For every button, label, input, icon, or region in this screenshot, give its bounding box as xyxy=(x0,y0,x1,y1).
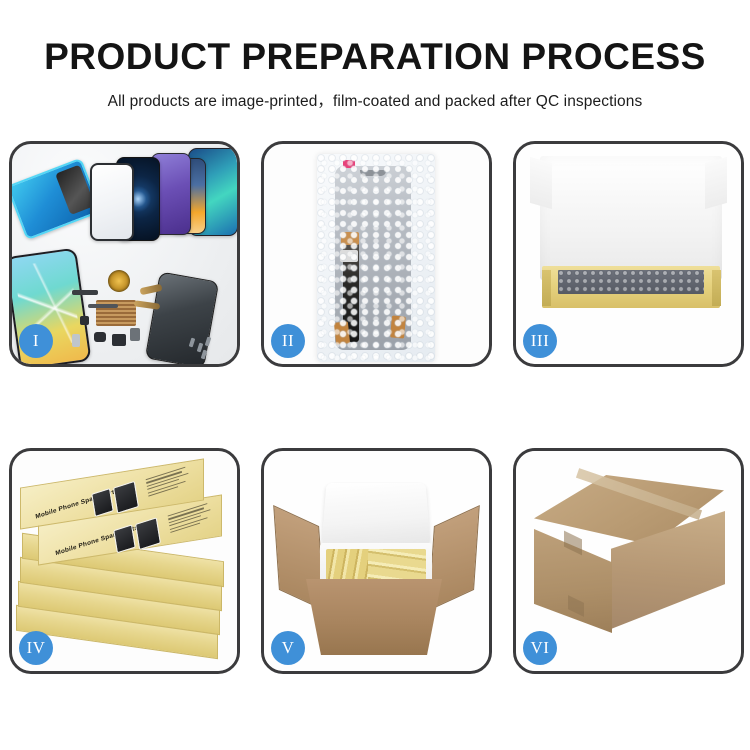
box-print-thumbnail xyxy=(113,481,139,514)
part-chip xyxy=(80,316,89,325)
step-badge-v: V xyxy=(271,631,305,665)
step-badge-iii: III xyxy=(523,324,557,358)
box-print-thumbnail xyxy=(91,488,114,517)
tray-lip-left xyxy=(542,270,551,306)
page-title: PRODUCT PREPARATION PROCESS xyxy=(0,0,750,78)
part-button xyxy=(94,332,106,342)
step-badge-i: I xyxy=(19,324,53,358)
part-speaker xyxy=(130,328,140,341)
carton-body xyxy=(306,579,442,655)
step-panel-ii[interactable]: II xyxy=(261,141,492,367)
step-panel-iv[interactable]: Mobile Phone Spare Parts Mobile Phone Sp… xyxy=(9,448,240,674)
box-white-lid xyxy=(540,156,722,280)
box-lid-flap-left xyxy=(530,157,552,209)
page-header: PRODUCT PREPARATION PROCESS All products… xyxy=(0,0,750,111)
part-camera-module xyxy=(112,334,126,346)
bubble-wrapped-contents xyxy=(558,270,704,294)
bubble-wrap-package xyxy=(317,154,435,362)
part-strip xyxy=(72,290,98,295)
step-panel-iii[interactable]: III xyxy=(513,141,744,367)
part-flex-cable xyxy=(140,284,163,295)
phone-glass-panel xyxy=(90,163,134,241)
step-badge-vi: VI xyxy=(523,631,557,665)
foam-lid xyxy=(321,483,430,546)
screws-group xyxy=(188,336,216,360)
step-panel-v[interactable]: V xyxy=(261,448,492,674)
part-antenna xyxy=(88,304,118,308)
box-print-thumbnail xyxy=(135,517,161,550)
step-badge-ii: II xyxy=(271,324,305,358)
box-lid-flap-right xyxy=(705,157,727,209)
part-flex-cable xyxy=(134,300,161,310)
bubble-texture-overlay xyxy=(317,154,435,362)
box-print-speclines xyxy=(168,502,215,535)
wireless-coil-part xyxy=(108,270,130,292)
part-sim-tray xyxy=(72,334,80,347)
page-subtitle: All products are image-printed，film-coat… xyxy=(0,78,750,111)
box-print-speclines xyxy=(146,465,193,498)
step-badge-iv: IV xyxy=(19,631,53,665)
step-panel-i[interactable]: I xyxy=(9,141,240,367)
process-step-grid: I II xyxy=(9,141,743,674)
spare-parts-cluster xyxy=(72,276,182,362)
tray-lip-right xyxy=(712,270,721,306)
step-panel-vi[interactable]: VI xyxy=(513,448,744,674)
box-print-thumbnail xyxy=(113,524,136,553)
